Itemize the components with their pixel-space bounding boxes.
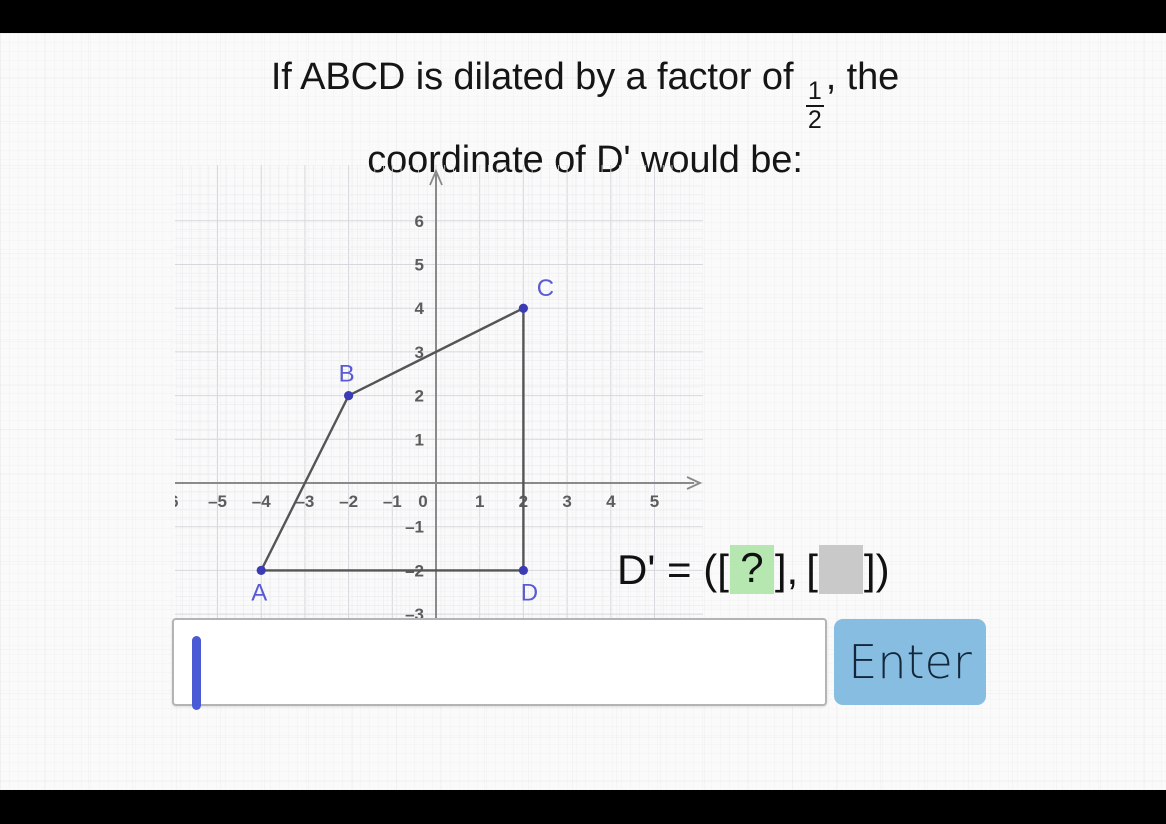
svg-text:4: 4	[415, 299, 425, 318]
screen-root: If ABCD is dilated by a factor of 1 2 , …	[0, 0, 1166, 824]
svg-text:–1: –1	[405, 518, 424, 537]
vertex-labels: ABCD	[251, 275, 554, 606]
svg-text:5: 5	[650, 492, 659, 511]
fraction-one-half: 1 2	[806, 79, 824, 134]
svg-text:6: 6	[415, 212, 424, 231]
svg-text:B: B	[339, 361, 355, 388]
svg-text:–2: –2	[339, 492, 358, 511]
prompt-text-before-fraction: If ABCD is dilated by a factor of	[271, 56, 794, 98]
axis-tick-labels: 6–5–4–3–2–1012345654321–1–2–3	[175, 212, 659, 624]
answer-input-row: Enter	[172, 618, 990, 713]
svg-text:1: 1	[475, 492, 484, 511]
svg-text:–4: –4	[252, 492, 271, 511]
svg-text:0: 0	[418, 492, 427, 511]
svg-text:2: 2	[415, 387, 424, 406]
answer-bracket-close-1: ]	[775, 549, 787, 591]
svg-text:3: 3	[562, 492, 571, 511]
letterbox-bottom	[0, 790, 1166, 824]
answer-bracket-open-2: [	[806, 549, 818, 591]
svg-text:5: 5	[415, 256, 424, 275]
prompt-line-1: If ABCD is dilated by a factor of 1 2 , …	[150, 51, 1020, 134]
answer-expression: D' = ( [ ? ] , [ ] )	[617, 545, 890, 594]
svg-text:A: A	[251, 579, 267, 606]
svg-text:–5: –5	[208, 492, 227, 511]
enter-button[interactable]: Enter	[834, 619, 986, 705]
answer-slot-y[interactable]	[819, 545, 863, 594]
answer-bracket-open-1: [	[717, 549, 729, 591]
svg-text:4: 4	[606, 492, 616, 511]
answer-separator: ,	[787, 549, 799, 591]
answer-label: D' = (	[617, 549, 717, 591]
prompt-text-after-fraction: , the	[826, 56, 899, 98]
fraction-denominator: 2	[806, 108, 824, 134]
answer-paren-close: )	[876, 549, 890, 591]
answer-bracket-close-2: ]	[864, 549, 876, 591]
svg-text:C: C	[537, 275, 554, 302]
svg-text:D: D	[521, 579, 538, 606]
svg-text:1: 1	[415, 430, 424, 449]
answer-text-input[interactable]	[172, 618, 827, 706]
answer-slot-x[interactable]: ?	[730, 545, 774, 594]
text-cursor	[192, 636, 201, 710]
worksheet-surface: If ABCD is dilated by a factor of 1 2 , …	[0, 33, 1166, 790]
svg-text:–1: –1	[383, 492, 402, 511]
letterbox-top	[0, 0, 1166, 33]
fraction-numerator: 1	[806, 79, 824, 105]
svg-text:6: 6	[175, 492, 179, 511]
